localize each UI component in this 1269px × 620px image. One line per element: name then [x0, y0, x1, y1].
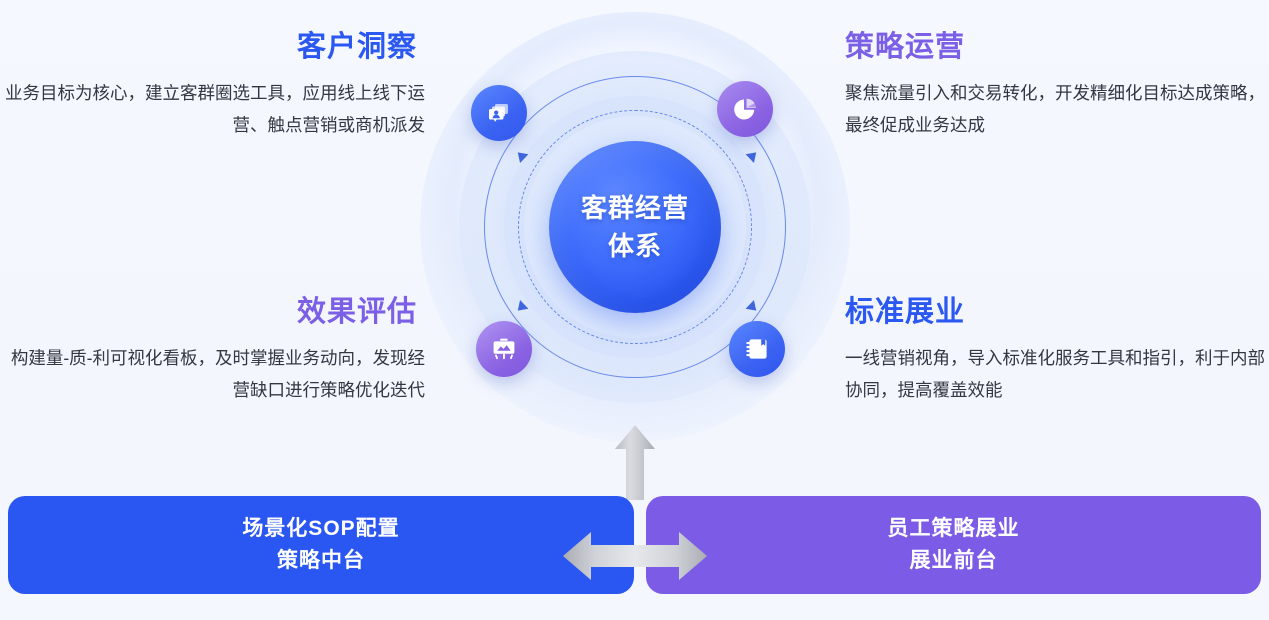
- diagram-canvas: 客户洞察 业务目标为核心，建立客群圈选工具，应用线上线下运营、触点营销或商机派发…: [0, 0, 1269, 620]
- presentation-board-icon[interactable]: [476, 321, 532, 377]
- quadrant-body-strategy-operation: 聚焦流量引入和交易转化，开发精细化目标达成策略，最终促成业务达成: [845, 77, 1265, 141]
- notebook-icon[interactable]: [729, 321, 785, 377]
- quadrant-customer-insight: 客户洞察 业务目标为核心，建立客群圈选工具，应用线上线下运营、触点营销或商机派发: [0, 30, 425, 141]
- quadrant-standard-business: 标准展业 一线营销视角，导入标准化服务工具和指引，利于内部协同，提高覆盖效能: [845, 295, 1269, 406]
- quadrant-body-effect-evaluation: 构建量-质-利可视化看板，及时掌握业务动向，发现经营缺口进行策略优化迭代: [0, 342, 425, 406]
- quadrant-strategy-operation: 策略运营 聚焦流量引入和交易转化，开发精细化目标达成策略，最终促成业务达成: [845, 30, 1265, 141]
- bar-staff-frontend[interactable]: 员工策略展业 展业前台: [646, 496, 1261, 594]
- bar-sop-platform-line2: 策略中台: [277, 549, 365, 572]
- bar-sop-platform[interactable]: 场景化SOP配置 策略中台: [8, 496, 634, 594]
- up-arrow-icon: [613, 424, 657, 505]
- pie-chart-icon[interactable]: [717, 81, 773, 137]
- bar-staff-frontend-label: 员工策略展业 展业前台: [888, 513, 1020, 577]
- bar-sop-platform-label: 场景化SOP配置 策略中台: [242, 513, 399, 577]
- core-label-line2: 体系: [608, 231, 662, 261]
- bar-staff-frontend-line1: 员工策略展业: [888, 517, 1020, 540]
- bar-sop-platform-line1: 场景化SOP配置: [242, 517, 399, 540]
- central-circle-diagram: 客群经营 体系: [411, 3, 859, 451]
- quadrant-title-effect-evaluation: 效果评估: [0, 295, 425, 330]
- core-label: 客群经营 体系: [581, 189, 689, 265]
- quadrant-body-standard-business: 一线营销视角，导入标准化服务工具和指引，利于内部协同，提高覆盖效能: [845, 342, 1269, 406]
- bidirectional-arrow-icon: [561, 528, 709, 589]
- quadrant-title-strategy-operation: 策略运营: [845, 30, 1265, 65]
- quadrant-body-customer-insight: 业务目标为核心，建立客群圈选工具，应用线上线下运营、触点营销或商机派发: [0, 77, 425, 141]
- core-circle: 客群经营 体系: [549, 141, 721, 313]
- bar-staff-frontend-line2: 展业前台: [910, 549, 998, 572]
- quadrant-effect-evaluation: 效果评估 构建量-质-利可视化看板，及时掌握业务动向，发现经营缺口进行策略优化迭…: [0, 295, 425, 406]
- contact-cards-icon[interactable]: [471, 85, 527, 141]
- core-label-line1: 客群经营: [581, 193, 689, 223]
- quadrant-title-standard-business: 标准展业: [845, 295, 1269, 330]
- quadrant-title-customer-insight: 客户洞察: [0, 30, 425, 65]
